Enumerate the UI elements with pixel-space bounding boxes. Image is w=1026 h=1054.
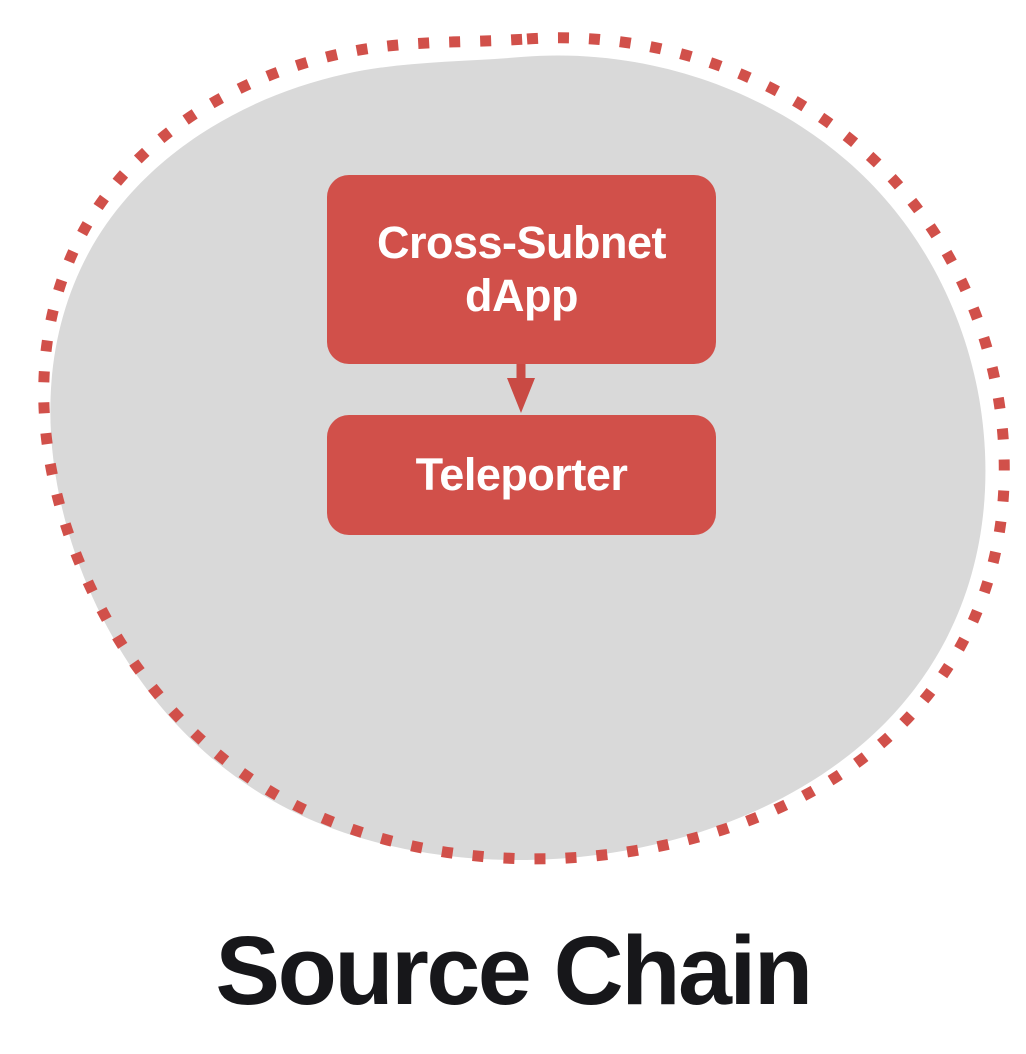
- node-teleporter-label: Teleporter: [416, 449, 628, 501]
- node-cross-subnet-dapp-label-line1: Cross-Subnet: [377, 217, 666, 269]
- node-teleporter[interactable]: Teleporter: [327, 415, 716, 535]
- diagram-canvas: Cross-Subnet dApp Teleporter Source Chai…: [0, 0, 1026, 1054]
- node-cross-subnet-dapp-label: Cross-Subnet dApp: [377, 217, 666, 321]
- node-cross-subnet-dapp-label-line2: dApp: [377, 270, 666, 322]
- source-chain-title: Source Chain: [0, 922, 1026, 1019]
- node-cross-subnet-dapp[interactable]: Cross-Subnet dApp: [327, 175, 716, 364]
